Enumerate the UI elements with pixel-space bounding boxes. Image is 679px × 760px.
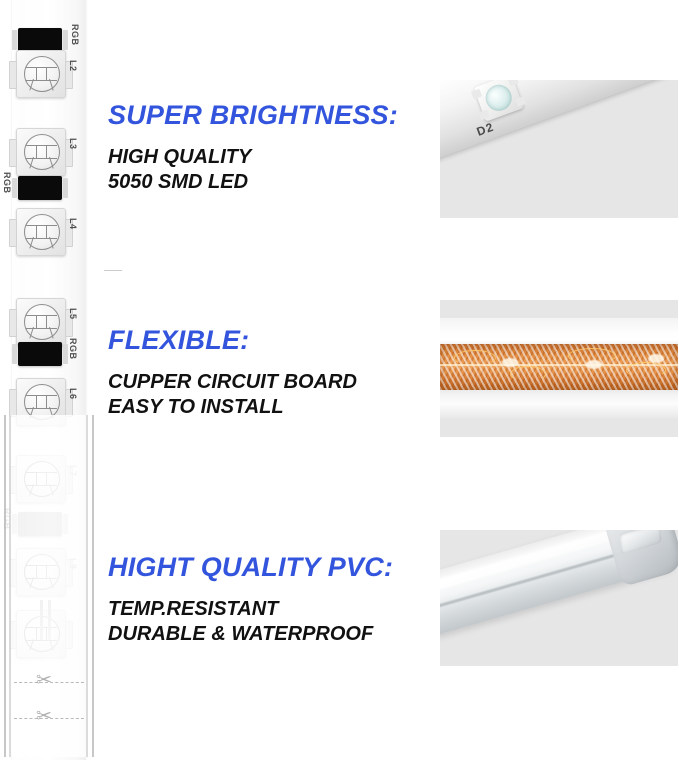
led-label-l8: L8 <box>68 558 78 570</box>
silkscreen-label-d2: D2 <box>475 120 496 139</box>
feature-block-flexible: FLEXIBLE: CUPPER CIRCUIT BOARD EASY TO I… <box>108 325 438 420</box>
feature-line2-pvc: DURABLE & WATERPROOF <box>108 622 438 647</box>
pcb-strip-render: 111 R11 D2 <box>440 80 678 164</box>
chip-label-rgb: RGB <box>68 338 78 360</box>
feature-block-pvc: HIGHT QUALITY PVC: TEMP.RESISTANT DURABL… <box>108 552 438 647</box>
feature-line1-flexible: CUPPER CIRCUIT BOARD <box>108 370 438 395</box>
photo-5050-smd-led-closeup: 111 R11 D2 <box>440 80 678 218</box>
chip-pad-left <box>12 514 17 534</box>
copper-braid-render <box>440 344 678 390</box>
decorative-divider <box>104 270 122 271</box>
clear-tube-render <box>440 318 678 418</box>
led-package-l4 <box>16 208 66 256</box>
feature-line2-flexible: EASY TO INSTALL <box>108 395 438 420</box>
feature-line1-brightness: HIGH QUALITY <box>108 145 438 170</box>
led-dome-icon <box>24 384 60 420</box>
chip-pad-left <box>12 30 17 50</box>
pvc-sleeve-open-end <box>602 530 678 587</box>
led-dome-icon <box>24 214 60 250</box>
led-label-l4: L4 <box>68 218 78 230</box>
chip-label-rgb: RGB <box>70 24 80 46</box>
scissors-icon: ✂ <box>36 670 52 692</box>
led-label-l3: L3 <box>68 138 78 150</box>
cut-line-marker: ✂ <box>14 708 86 730</box>
led-label-l5: L5 <box>68 308 78 320</box>
led-dome-icon <box>24 554 60 590</box>
feature-heading-brightness: SUPER BRIGHTNESS: <box>108 100 438 131</box>
chip-label-rgb: RGB <box>2 172 12 194</box>
chip-label-rgb: RGB <box>2 508 12 530</box>
scissors-icon: ✂ <box>36 706 52 728</box>
feature-line2-brightness: 5050 SMD LED <box>108 170 438 195</box>
led-label-l2: L2 <box>68 60 78 72</box>
pvc-sleeve-render <box>440 530 678 637</box>
feature-heading-flexible: FLEXIBLE: <box>108 325 438 356</box>
led-package-l2 <box>16 50 66 98</box>
led-dome-icon <box>24 461 60 497</box>
led-dome-icon <box>24 304 60 340</box>
photo-copper-circuit-board-closeup <box>440 300 678 437</box>
feature-line1-pvc: TEMP.RESISTANT <box>108 597 438 622</box>
rgb-chip <box>18 28 62 52</box>
smd-led-5050 <box>474 80 524 122</box>
feature-heading-pvc: HIGHT QUALITY PVC: <box>108 552 438 583</box>
led-label-l6: L6 <box>68 388 78 400</box>
rgb-chip <box>18 342 62 366</box>
led-strip-diagram: RGB L2 L3 RGB L4 L5 RGB <box>0 0 100 757</box>
solder-pads <box>38 600 54 640</box>
led-label-l7: L7 <box>68 465 78 477</box>
chip-pad-right <box>63 514 68 534</box>
rgb-chip <box>18 512 62 536</box>
led-package-l7 <box>16 455 66 503</box>
cut-line-marker: ✂ <box>14 672 86 694</box>
led-package-l5 <box>16 298 66 346</box>
photo-pvc-sleeve-end-closeup <box>440 530 678 666</box>
chip-pad-left <box>12 178 17 198</box>
chip-pad-right <box>63 30 68 50</box>
led-package-l8 <box>16 548 66 596</box>
feature-block-brightness: SUPER BRIGHTNESS: HIGH QUALITY 5050 SMD … <box>108 100 438 195</box>
led-package-l6 <box>16 378 66 426</box>
chip-pad-left <box>12 344 17 364</box>
chip-pad-right <box>63 178 68 198</box>
rgb-chip <box>18 176 62 200</box>
led-dome-icon <box>24 56 60 92</box>
led-package-l3 <box>16 128 66 176</box>
led-dome-icon <box>24 134 60 170</box>
